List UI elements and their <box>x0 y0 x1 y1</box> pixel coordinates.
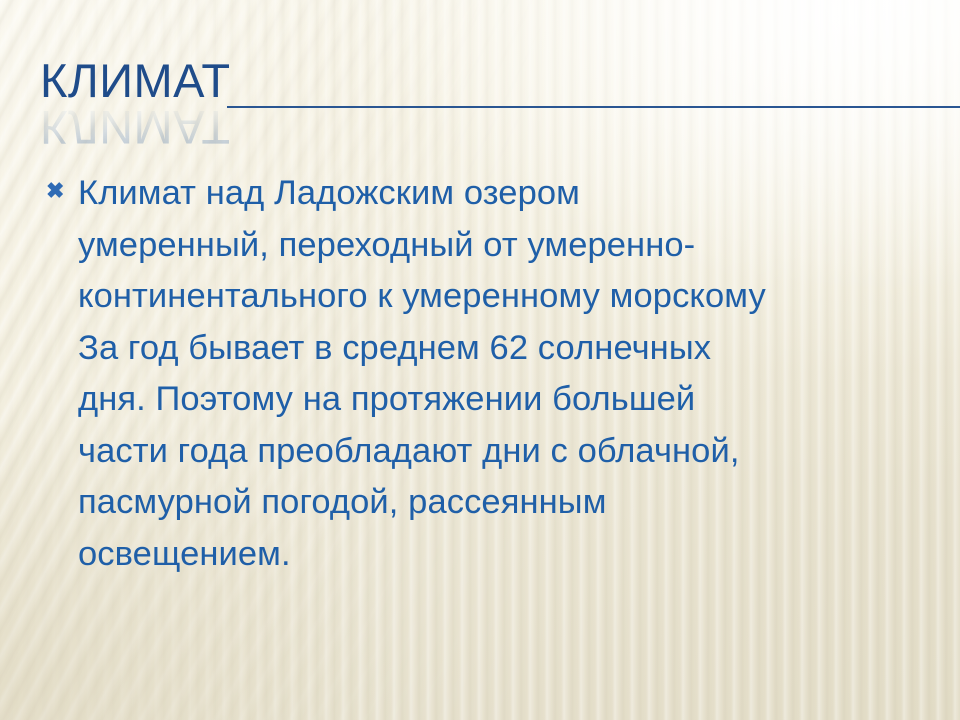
title-area: Климат Климат <box>40 54 920 149</box>
body-content: ✖ Климат над Ладожским озером умеренный,… <box>44 168 934 580</box>
slide-title-reflection: Климат <box>40 100 231 154</box>
slide-title: Климат <box>40 54 231 108</box>
bullet-item-text: Климат над Ладожским озером умеренный, п… <box>78 168 934 580</box>
bullet-cross-icon: ✖ <box>44 168 78 214</box>
slide: Климат Климат ✖ Климат над Ладожским озе… <box>0 0 960 720</box>
title-divider-rule <box>227 106 960 108</box>
bullet-list-item: ✖ Климат над Ладожским озером умеренный,… <box>44 168 934 580</box>
